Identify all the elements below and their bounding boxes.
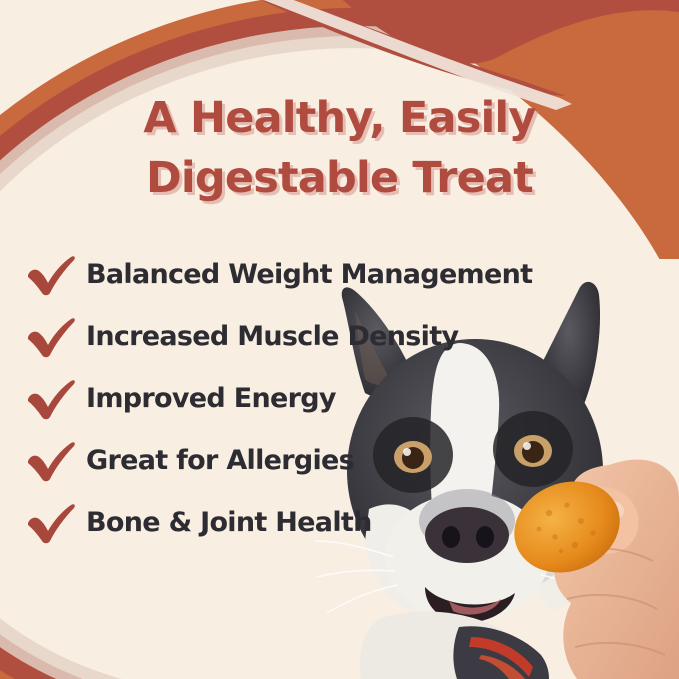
benefit-item-4: Bone & Joint Health (22, 491, 662, 553)
check-icon (22, 499, 80, 545)
benefits-list: Balanced Weight Management Increased Mus… (22, 243, 662, 553)
promotional-poster: A Healthy, Easily Digestable Treat Balan… (0, 0, 679, 679)
page-title: A Healthy, Easily Digestable Treat (0, 88, 679, 208)
benefit-label: Increased Muscle Density (86, 321, 458, 352)
benefit-label: Great for Allergies (86, 445, 354, 476)
headline-line-2: Digestable Treat (0, 148, 679, 208)
benefit-item-0: Balanced Weight Management (22, 243, 662, 305)
check-icon (22, 375, 80, 421)
check-icon (22, 313, 80, 359)
check-icon (22, 437, 80, 483)
check-icon (22, 251, 80, 297)
benefit-label: Balanced Weight Management (86, 259, 532, 290)
benefit-item-2: Improved Energy (22, 367, 662, 429)
benefit-item-1: Increased Muscle Density (22, 305, 662, 367)
headline-line-1: A Healthy, Easily (0, 88, 679, 148)
benefit-item-3: Great for Allergies (22, 429, 662, 491)
benefit-label: Bone & Joint Health (86, 507, 372, 538)
benefit-label: Improved Energy (86, 383, 336, 414)
